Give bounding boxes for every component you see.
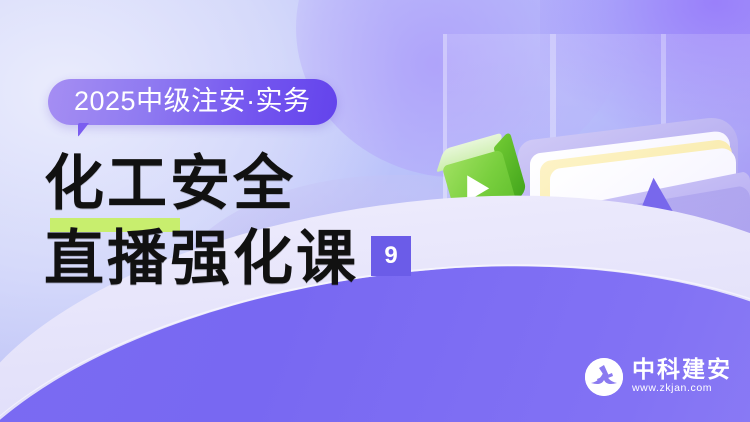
brand-url: www.zkjan.com	[632, 382, 712, 396]
brand-name: 中科建安	[632, 357, 732, 381]
brand-text: 中科建安 www.zkjan.com	[632, 357, 732, 396]
page-title: 化工安全	[44, 153, 411, 216]
mountain-person-circle-icon	[585, 358, 623, 396]
course-category-badge: 2025中级注安·实务	[48, 79, 337, 125]
badge-pointer-tail	[78, 123, 98, 137]
course-banner: 2025中级注安·实务 化工安全 直播强化课 9 中科建安 www.zkjan	[0, 0, 750, 422]
course-category-label: 2025中级注安·实务	[74, 88, 311, 115]
title-block: 化工安全 直播强化课 9	[44, 153, 411, 291]
episode-badge: 9	[371, 236, 411, 276]
page-subtitle: 直播强化课	[44, 228, 359, 291]
episode-number: 9	[384, 244, 397, 268]
title-line2-row: 直播强化课 9	[44, 228, 411, 291]
brand-logo: 中科建安 www.zkjan.com	[585, 357, 732, 396]
